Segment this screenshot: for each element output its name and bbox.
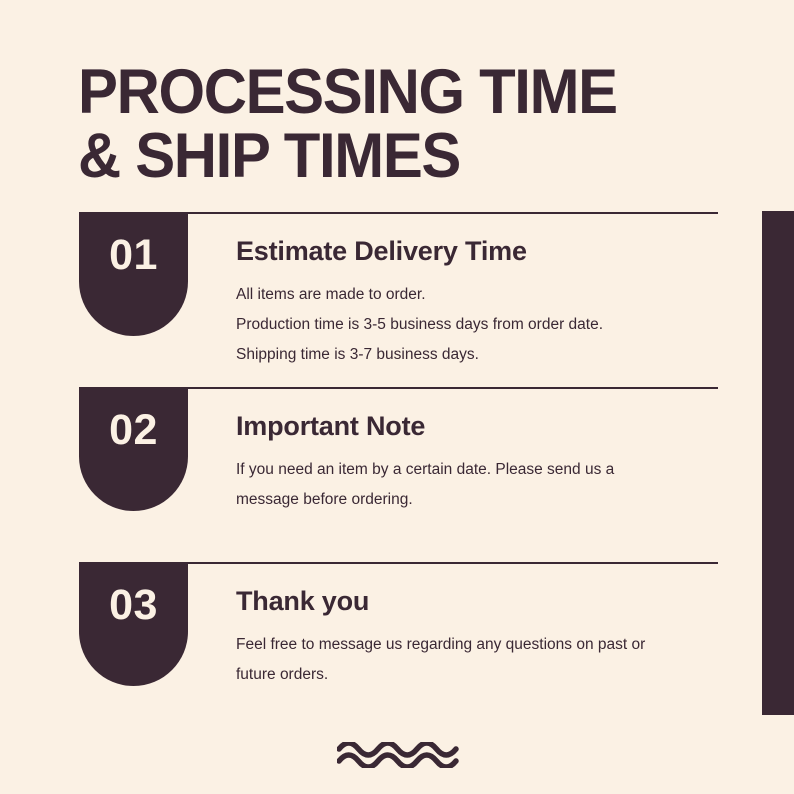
section-paragraph: If you need an item by a certain date. P… (236, 455, 721, 515)
section-body: Thank you Feel free to message us regard… (236, 586, 721, 690)
section-paragraph: Feel free to message us regarding any qu… (236, 630, 721, 690)
section-line: If you need an item by a certain date. P… (236, 455, 721, 485)
section-line: message before ordering. (236, 485, 721, 515)
right-edge-accent-bar (762, 211, 794, 715)
double-wave-divider-icon (337, 742, 461, 768)
section-body: Important Note If you need an item by a … (236, 411, 721, 515)
section-heading: Estimate Delivery Time (236, 236, 721, 266)
page-title-line-2: & SHIP TIMES (78, 124, 705, 188)
section-line: future orders. (236, 660, 721, 690)
section-line: Production time is 3-5 business days fro… (236, 310, 721, 340)
section-line: All items are made to order. (236, 280, 721, 310)
step-badge-01: 01 (79, 213, 188, 336)
section-heading: Important Note (236, 411, 721, 441)
step-badge-03: 03 (79, 563, 188, 686)
poster-canvas: PROCESSING TIME & SHIP TIMES 01 Estimate… (0, 0, 794, 794)
step-number: 03 (109, 583, 158, 628)
page-title-line-1: PROCESSING TIME (78, 60, 705, 124)
step-badge-02: 02 (79, 388, 188, 511)
step-number: 01 (109, 233, 158, 278)
page-title: PROCESSING TIME & SHIP TIMES (78, 60, 705, 188)
section-paragraph: All items are made to order. Production … (236, 280, 721, 370)
step-number: 02 (109, 408, 158, 453)
section-body: Estimate Delivery Time All items are mad… (236, 236, 721, 370)
section-line: Shipping time is 3-7 business days. (236, 340, 721, 370)
section-heading: Thank you (236, 586, 721, 616)
section-line: Feel free to message us regarding any qu… (236, 630, 721, 660)
